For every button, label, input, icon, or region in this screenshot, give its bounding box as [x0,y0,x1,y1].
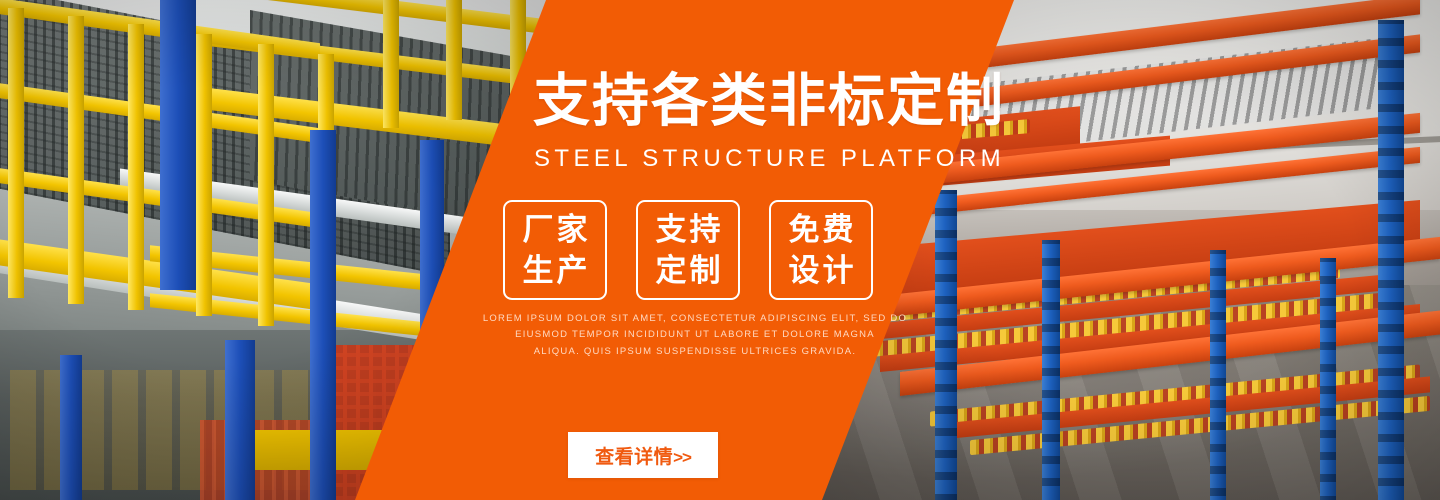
promo-banner: 支持各类非标定制 STEEL STRUCTURE PLATFORM 厂家 生产 … [0,0,1440,500]
badge-line-1: 厂家 [520,209,591,250]
badge-line-2: 生产 [520,250,591,291]
banner-title: 支持各类非标定制 [533,72,1005,132]
view-details-button-label: 查看详情>> [595,442,691,469]
banner-description: LOREM IPSUM DOLOR SIT AMET, CONSECTETUR … [460,311,930,360]
cta-label-text: 查看详情 [595,447,673,468]
feature-badge-list: 厂家 生产 支持 定制 免费 设计 [503,200,873,300]
feature-badge-manufacturer: 厂家 生产 [503,200,607,300]
feature-badge-customization: 支持 定制 [636,200,740,300]
banner-content: 支持各类非标定制 STEEL STRUCTURE PLATFORM 厂家 生产 … [0,0,1440,500]
badge-line-1: 免费 [786,209,857,250]
description-line-2: EIUSMOD TEMPOR INCIDIDUNT UT LABORE ET D… [460,327,930,343]
feature-badge-free-design: 免费 设计 [769,200,873,300]
badge-line-1: 支持 [653,209,724,250]
description-line-1: LOREM IPSUM DOLOR SIT AMET, CONSECTETUR … [460,311,930,327]
cta-arrows-icon: >> [673,448,691,467]
banner-subtitle: STEEL STRUCTURE PLATFORM [534,145,1005,173]
view-details-button[interactable]: 查看详情>> [568,432,718,478]
badge-line-2: 定制 [653,250,724,291]
description-line-3: ALIQUA. QUIS IPSUM SUSPENDISSE ULTRICES … [460,344,930,360]
badge-line-2: 设计 [786,250,857,291]
